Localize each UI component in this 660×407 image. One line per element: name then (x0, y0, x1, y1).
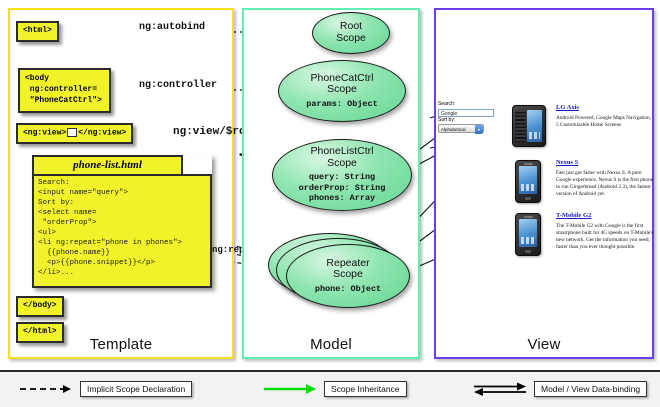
phone-list-item: T-Mobile G2 The T-Mobile G2 with Google … (556, 212, 654, 251)
legend-item-scope-inheritance: Scope Inheritance (262, 381, 407, 397)
callout-phone-list: phone-list.html Search: <input name="que… (32, 155, 212, 288)
phone-name-link[interactable]: Nexus S (556, 159, 654, 167)
dashed-arrow-icon (18, 382, 74, 396)
code-box-body-open: <body ng:controller= "PhoneCatCtrl"> (18, 68, 111, 113)
scope-root: RootScope (312, 12, 390, 54)
double-arrow-icon (472, 382, 528, 396)
phone-name-link[interactable]: LG Axis (556, 104, 654, 112)
scope-phonelistctrl-props: query: String orderProp: String phones: … (299, 172, 386, 204)
view-search-form: Search: Google Sort by: Alphabetical▾ (438, 101, 500, 133)
chevron-down-icon: ▾ (475, 125, 483, 134)
callout-code: Search: <input name="query"> Sort by: <s… (32, 174, 212, 288)
scope-phonelistctrl-title: PhoneListCtrlScope (310, 146, 373, 169)
search-label: Search: (438, 101, 500, 109)
ngview-placeholder-icon (67, 128, 77, 137)
phone-thumbnail-2 (515, 160, 541, 203)
legend: Implicit Scope Declaration Scope Inherit… (0, 370, 660, 407)
phone-snippet: Android Powered, Google Maps Navigation,… (556, 115, 654, 129)
phone-screen (527, 110, 542, 142)
ngview-open-tag: <ng:view> (23, 129, 66, 138)
phone-name-link[interactable]: T-Mobile G2 (556, 212, 654, 220)
ngview-close-tag: </ng:view> (78, 129, 126, 138)
edge-label-controller: ng:controller (139, 80, 217, 91)
phone-list-item: Nexus S Fast just got faster with Nexus … (556, 159, 654, 198)
legend-label-scope-inheritance: Scope Inheritance (324, 381, 407, 397)
legend-item-implicit-scope: Implicit Scope Declaration (18, 381, 192, 397)
scope-phonecatctrl-props: params: Object (306, 99, 377, 110)
phone-keyboard-icon (515, 110, 526, 142)
edge-label-autobind: ng:autobind (139, 22, 205, 33)
code-box-ngview: <ng:view></ng:view> (16, 123, 133, 144)
legend-label-data-binding: Model / View Data-binding (534, 381, 647, 397)
phone-speaker-icon (524, 216, 533, 218)
code-box-body-close: </body> (16, 296, 64, 317)
scope-repeater: RepeaterScope phone: Object (286, 244, 410, 308)
search-input[interactable]: Google (438, 109, 494, 117)
scope-phonecatctrl: PhoneCatCtrlScope params: Object (278, 60, 406, 122)
phone-thumbnail-1 (512, 105, 546, 147)
sort-select[interactable]: Alphabetical▾ (438, 124, 484, 133)
callout-title: phone-list.html (32, 155, 183, 175)
scope-repeater-title: RepeaterScope (326, 258, 369, 281)
phone-snippet: The T-Mobile G2 with Google is the first… (556, 223, 654, 251)
scope-root-title: RootScope (336, 21, 366, 44)
code-box-html-open: <html> (16, 21, 59, 42)
code-box-html-close: </html> (16, 322, 64, 343)
phone-home-button-icon (525, 197, 531, 200)
panel-view-label: View (436, 336, 652, 353)
legend-item-data-binding: Model / View Data-binding (472, 381, 647, 397)
scope-repeater-props: phone: Object (315, 284, 381, 295)
phone-screen (519, 219, 537, 247)
scope-phonelistctrl: PhoneListCtrlScope query: String orderPr… (272, 139, 412, 211)
scope-phonecatctrl-title: PhoneCatCtrlScope (310, 73, 373, 96)
phone-list-item: LG Axis Android Powered, Google Maps Nav… (556, 104, 654, 129)
phone-home-button-icon (525, 250, 531, 253)
phone-thumbnail-3 (515, 213, 541, 256)
sort-label: Sort by: (438, 117, 500, 125)
phone-speaker-icon (524, 163, 533, 165)
panel-model-label: Model (244, 336, 418, 353)
phone-screen (519, 166, 537, 194)
sort-select-value: Alphabetical (441, 127, 466, 132)
phone-snippet: Fast just got faster with Nexus S. A pur… (556, 170, 654, 198)
diagram-root: Template <html> <body ng:controller= "Ph… (0, 0, 660, 405)
green-arrow-icon (262, 382, 318, 396)
legend-label-implicit-scope: Implicit Scope Declaration (80, 381, 192, 397)
